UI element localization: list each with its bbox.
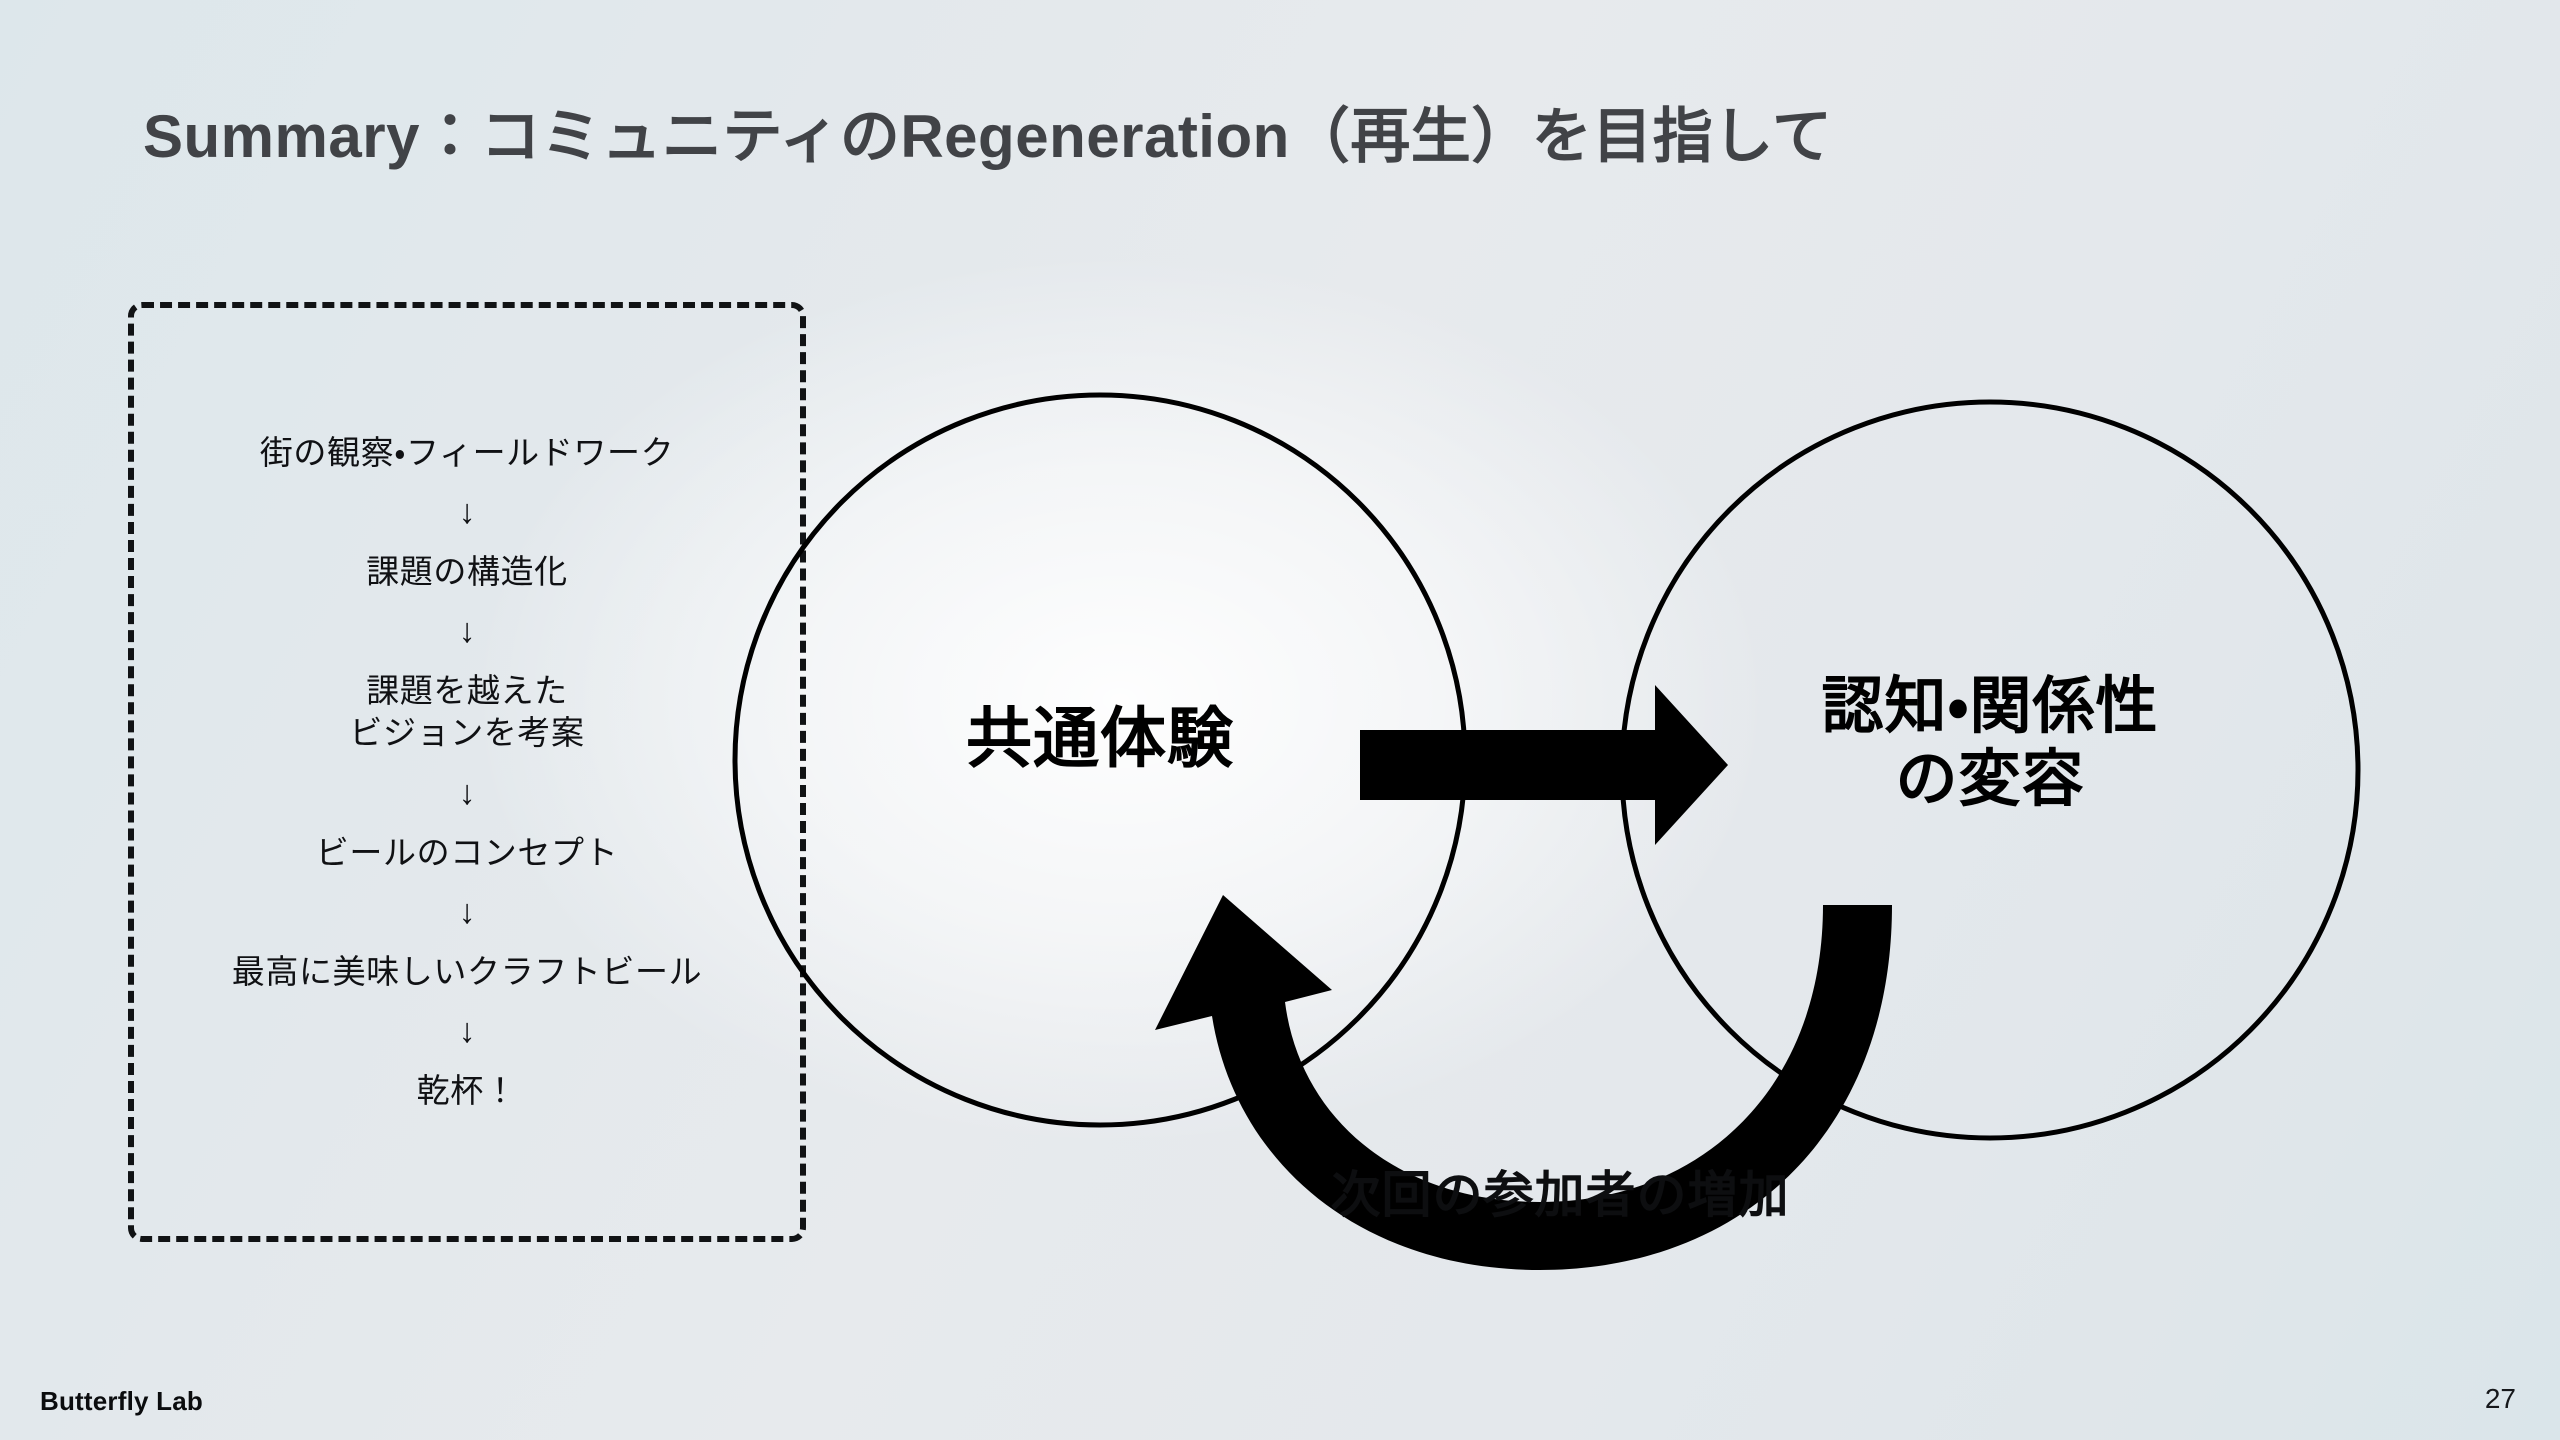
right-arrow-icon bbox=[1360, 685, 1728, 845]
feedback-arrow-label: 次回の参加者の増加 bbox=[1010, 1155, 2110, 1227]
left-circle-label: 共通体験 bbox=[810, 700, 1390, 778]
page-number: 27 bbox=[2485, 1383, 2516, 1415]
down-arrow-icon: ↓ bbox=[459, 1011, 476, 1052]
flow-step: 課題を越えた ビジョンを考案 bbox=[349, 670, 584, 754]
flow-step: 街の観察・フィールドワーク bbox=[260, 432, 674, 474]
down-arrow-icon: ↓ bbox=[459, 773, 476, 814]
footer-logo: Butterfly Lab bbox=[40, 1386, 203, 1417]
down-arrow-icon: ↓ bbox=[459, 492, 476, 533]
flow-step: 乾杯！ bbox=[417, 1070, 518, 1112]
down-arrow-icon: ↓ bbox=[459, 892, 476, 933]
slide-canvas: Summary：コミュニティのRegeneration（再生）を目指して 街の観… bbox=[0, 0, 2560, 1440]
flow-step: 最高に美味しいクラフトビール bbox=[232, 951, 702, 993]
page-title: Summary：コミュニティのRegeneration（再生）を目指して bbox=[143, 88, 1832, 175]
flow-step: ビールのコンセプト bbox=[316, 832, 618, 874]
flow-step: 課題の構造化 bbox=[366, 551, 568, 593]
down-arrow-icon: ↓ bbox=[459, 611, 476, 652]
right-circle-label: 認知・関係性 の変容 bbox=[1700, 670, 2280, 816]
